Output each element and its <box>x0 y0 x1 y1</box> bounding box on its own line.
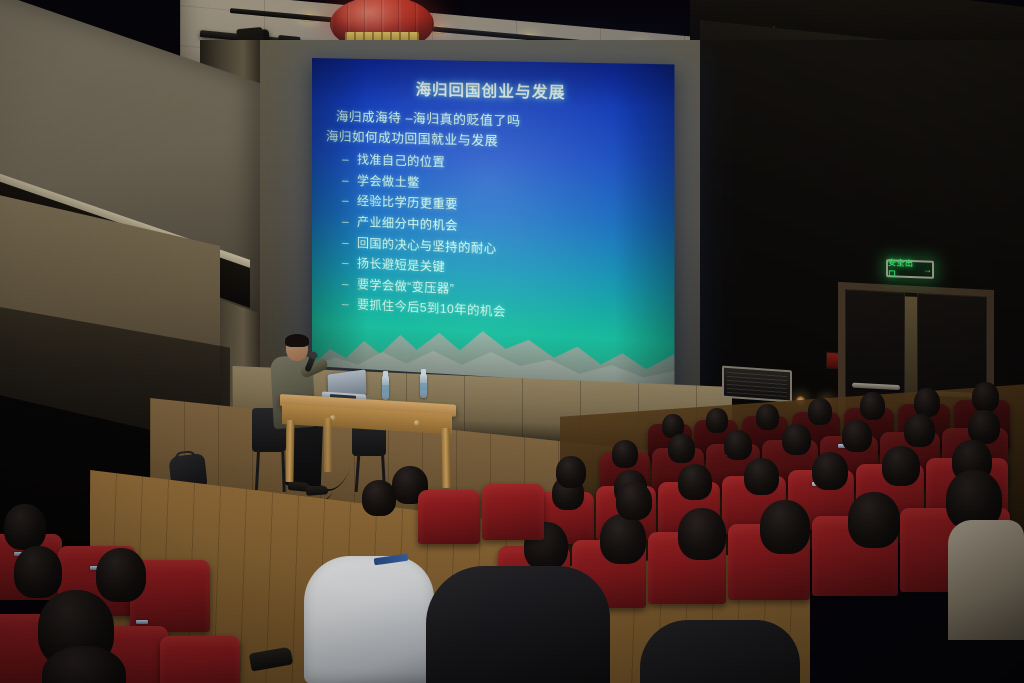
door-push-bar[interactable] <box>852 383 900 391</box>
audience-member-light-jacket <box>948 520 1024 640</box>
audience-head <box>616 482 652 520</box>
table-leg <box>285 420 294 482</box>
projection-screen: 海归回国创业与发展 海归成海待 –海归真的贬值了吗 海归如何成功回国就业与发展 … <box>312 58 674 388</box>
slide-bullet-list: 找准自己的位置 学会做土鳖 经验比学历更重要 产业细分中的机会 回国的决心与坚持… <box>326 148 661 331</box>
slide-content: 海归回国创业与发展 海归成海待 –海归真的贬值了吗 海归如何成功回国就业与发展 … <box>312 58 674 388</box>
auditorium-seat <box>482 484 544 540</box>
audience-head <box>96 548 146 602</box>
audience-head <box>904 414 935 447</box>
audience-head <box>860 392 885 420</box>
auditorium-seat <box>418 490 480 544</box>
presenter-hair <box>285 334 309 347</box>
audience-head <box>968 410 1000 444</box>
audience-head <box>668 434 695 463</box>
audience-head <box>556 456 586 488</box>
audience-head <box>756 404 779 430</box>
audience-head <box>760 500 810 554</box>
wall-vent-grille <box>722 366 792 403</box>
auditorium-scene: 海归回国创业与发展 海归成海待 –海归真的贬值了吗 海归如何成功回国就业与发展 … <box>0 0 1024 683</box>
audience-head <box>972 382 999 412</box>
table-drawer-knob <box>414 420 420 426</box>
audience-head <box>812 452 848 490</box>
audience-head <box>600 514 646 564</box>
audience-head <box>914 388 940 417</box>
water-bottle <box>382 376 389 400</box>
exit-sign: 安全出口 → <box>886 259 934 279</box>
audience-head <box>782 424 811 455</box>
audience-head <box>678 464 712 500</box>
auditorium-seat <box>160 636 240 683</box>
exit-arrow-icon: → <box>923 264 932 274</box>
audience-member-white-shirt <box>304 556 434 683</box>
presenter-shoe <box>306 485 329 496</box>
audience-head <box>848 492 900 548</box>
water-bottle <box>420 374 427 398</box>
audience-head <box>706 408 728 433</box>
audience-head <box>4 504 46 550</box>
audience-head <box>612 440 638 468</box>
table-leg <box>324 418 332 472</box>
audience-head <box>882 446 920 486</box>
audience-head <box>962 478 1014 534</box>
exit-sign-label: 安全出口 <box>888 257 921 280</box>
audience-head <box>842 420 872 452</box>
audience-head <box>744 458 779 495</box>
audience-head <box>14 546 62 598</box>
slide-title: 海归回国创业与发展 <box>326 76 661 105</box>
audience-head <box>362 480 396 516</box>
audience-head <box>666 566 770 648</box>
audience-head <box>724 430 752 460</box>
seat-number-plate <box>136 620 148 624</box>
audience-head <box>678 508 726 560</box>
table-leg <box>441 428 450 488</box>
audience-head <box>808 398 832 425</box>
